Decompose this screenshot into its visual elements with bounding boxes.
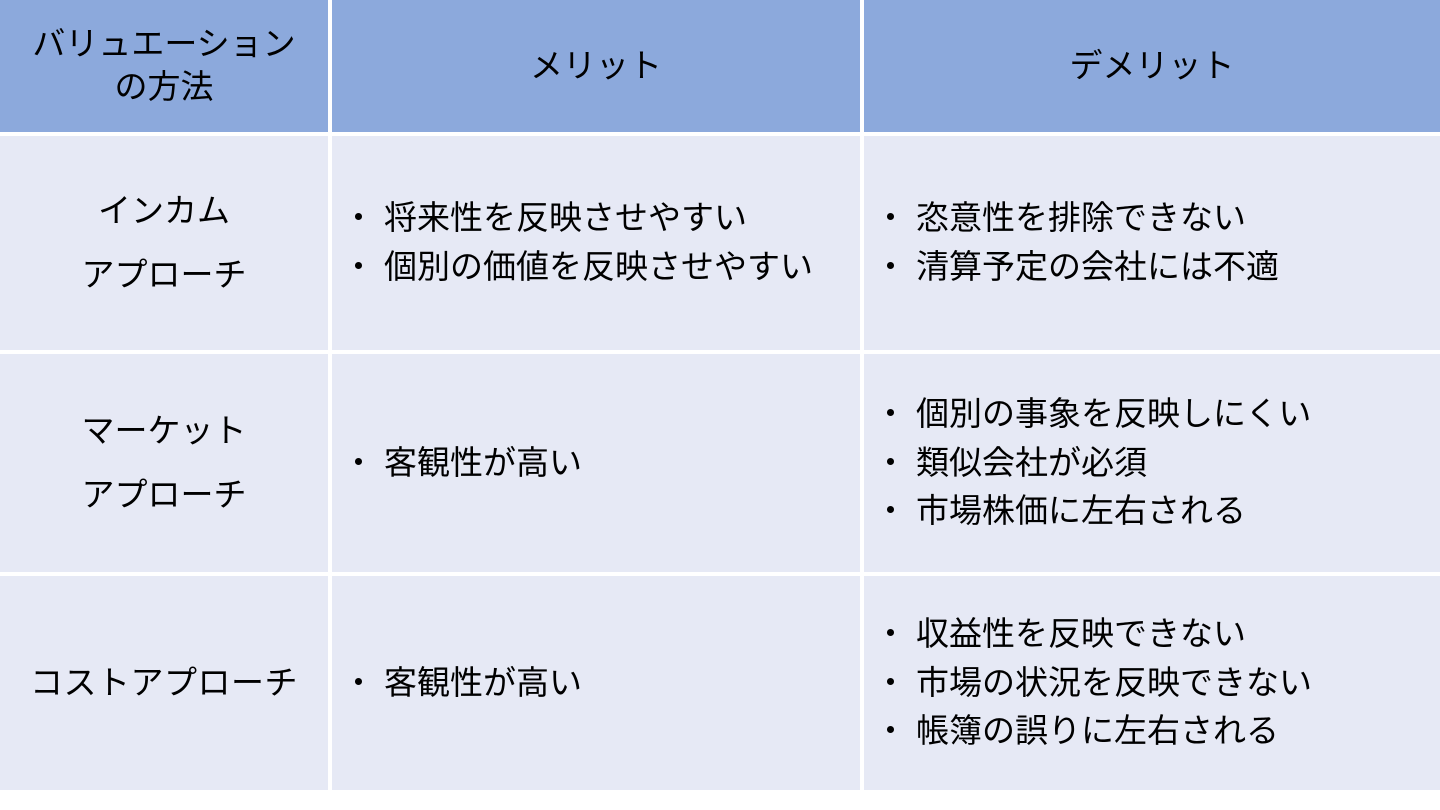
method-name: コストアプローチ [6,663,322,703]
list-item: ・個別の価値を反映させやすい [342,244,852,291]
list-item-text: 個別の事象を反映しにくい [916,394,1311,433]
list-item-text: 恣意性を排除できない [916,198,1246,237]
list-item-text: 市場株価に左右される [916,491,1246,530]
list-item-text: 将来性を反映させやすい [384,198,747,237]
merit-list: ・客観性が高い [342,440,852,487]
bullet-dot-icon: ・ [874,244,908,291]
cell-demerits-market: ・個別の事象を反映しにくい ・類似会社が必須 ・市場株価に左右される [864,354,1440,576]
method-name-line2: アプローチ [6,243,322,307]
merit-list: ・客観性が高い [342,660,852,707]
list-item-text: 帳簿の誤りに左右される [916,711,1279,750]
valuation-comparison-table-container: バリュエーション の方法 メリット デメリット インカム アプローチ ・将来性を… [0,0,1440,810]
method-name-line1: マーケット [6,399,322,463]
list-item-text: 客観性が高い [384,443,582,482]
list-item: ・市場株価に左右される [874,488,1432,535]
demerit-list: ・恣意性を排除できない ・清算予定の会社には不適 [874,195,1432,291]
column-header-method-line2: の方法 [115,67,214,106]
list-item: ・帳簿の誤りに左右される [874,708,1432,755]
bullet-dot-icon: ・ [874,611,908,658]
list-item: ・個別の事象を反映しにくい [874,391,1432,438]
cell-demerits-cost: ・収益性を反映できない ・市場の状況を反映できない ・帳簿の誤りに左右される [864,576,1440,790]
bullet-dot-icon: ・ [342,244,376,291]
bullet-dot-icon: ・ [342,195,376,242]
cell-method-market: マーケット アプローチ [0,354,332,576]
cell-merits-income: ・将来性を反映させやすい ・個別の価値を反映させやすい [332,136,864,354]
list-item-text: 清算予定の会社には不適 [916,247,1279,286]
bullet-dot-icon: ・ [874,391,908,438]
list-item: ・清算予定の会社には不適 [874,244,1432,291]
method-name-line2: アプローチ [6,463,322,527]
list-item-text: 個別の価値を反映させやすい [384,247,813,286]
column-header-method: バリュエーション の方法 [0,0,332,136]
list-item-text: 客観性が高い [384,663,582,702]
cell-merits-cost: ・客観性が高い [332,576,864,790]
bullet-dot-icon: ・ [874,660,908,707]
list-item-text: 収益性を反映できない [916,614,1246,653]
valuation-comparison-table: バリュエーション の方法 メリット デメリット インカム アプローチ ・将来性を… [0,0,1440,790]
demerit-list: ・収益性を反映できない ・市場の状況を反映できない ・帳簿の誤りに左右される [874,611,1432,756]
merit-list: ・将来性を反映させやすい ・個別の価値を反映させやすい [342,195,852,291]
table-header: バリュエーション の方法 メリット デメリット [0,0,1440,136]
cell-method-cost: コストアプローチ [0,576,332,790]
demerit-list: ・個別の事象を反映しにくい ・類似会社が必須 ・市場株価に左右される [874,391,1432,536]
table-row: コストアプローチ ・客観性が高い ・収益性を反映できない ・市場の状況を反映でき… [0,576,1440,790]
bullet-dot-icon: ・ [874,708,908,755]
table-header-row: バリュエーション の方法 メリット デメリット [0,0,1440,136]
bullet-dot-icon: ・ [874,440,908,487]
bullet-dot-icon: ・ [342,660,376,707]
cell-demerits-income: ・恣意性を排除できない ・清算予定の会社には不適 [864,136,1440,354]
bullet-dot-icon: ・ [342,440,376,487]
bullet-dot-icon: ・ [874,488,908,535]
column-header-merit: メリット [332,0,864,136]
list-item: ・恣意性を排除できない [874,195,1432,242]
list-item-text: 市場の状況を反映できない [916,663,1312,702]
list-item: ・市場の状況を反映できない [874,660,1432,707]
table-row: インカム アプローチ ・将来性を反映させやすい ・個別の価値を反映させやすい ・… [0,136,1440,354]
table-body: インカム アプローチ ・将来性を反映させやすい ・個別の価値を反映させやすい ・… [0,136,1440,790]
cell-merits-market: ・客観性が高い [332,354,864,576]
list-item-text: 類似会社が必須 [916,443,1147,482]
list-item: ・類似会社が必須 [874,440,1432,487]
list-item: ・収益性を反映できない [874,611,1432,658]
column-header-demerit: デメリット [864,0,1440,136]
list-item: ・将来性を反映させやすい [342,195,852,242]
list-item: ・客観性が高い [342,440,852,487]
list-item: ・客観性が高い [342,660,852,707]
method-name-line1: インカム [6,179,322,243]
bullet-dot-icon: ・ [874,195,908,242]
cell-method-income: インカム アプローチ [0,136,332,354]
column-header-method-line1: バリュエーション [32,24,295,63]
table-row: マーケット アプローチ ・客観性が高い ・個別の事象を反映しにくい ・類似会社が… [0,354,1440,576]
